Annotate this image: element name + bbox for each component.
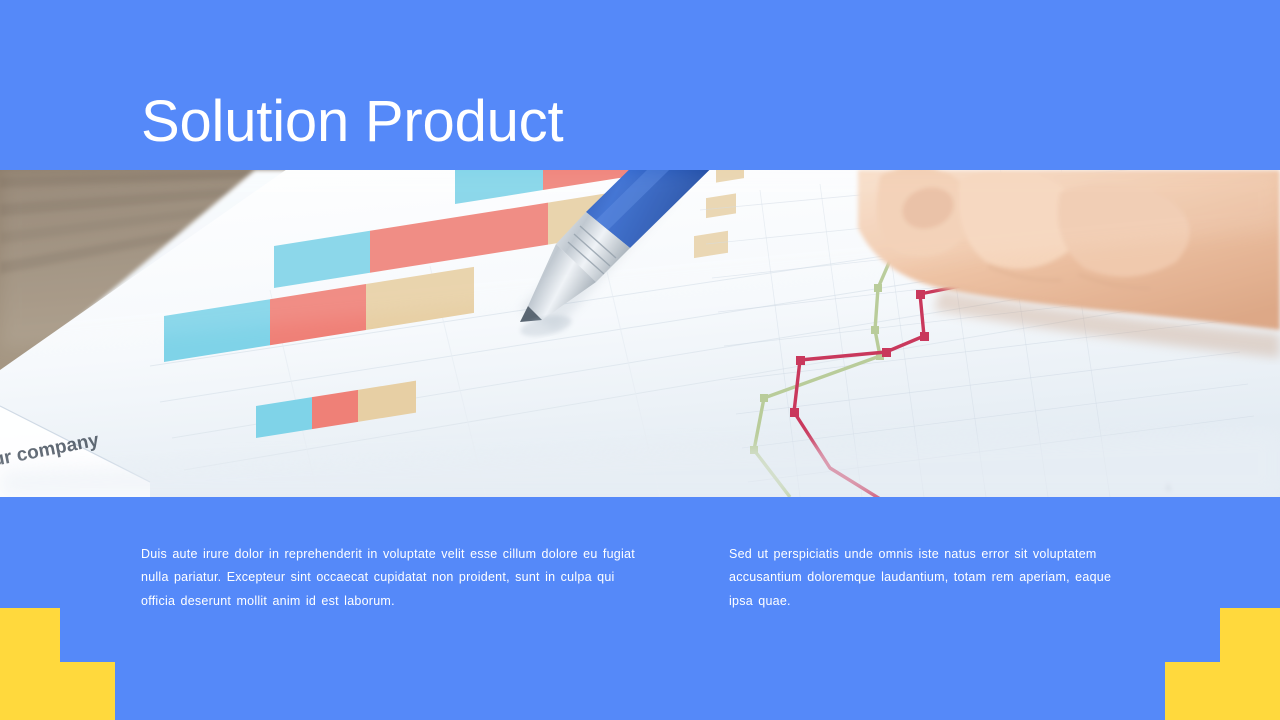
- slide-solution-product: Solution Product: [0, 0, 1280, 720]
- hero-photo-illustration: ur company 18 16 14 12: [0, 170, 1280, 497]
- body-text-row: Duis aute irure dolor in reprehenderit i…: [0, 497, 1280, 720]
- body-paragraph-right: Sed ut perspiciatis unde omnis iste natu…: [729, 543, 1139, 614]
- decoration-bottom-left-step-lower: [0, 662, 115, 720]
- decoration-bottom-right-step-lower: [1165, 662, 1280, 720]
- page-title: Solution Product: [141, 93, 563, 151]
- body-paragraph-left: Duis aute irure dolor in reprehenderit i…: [141, 543, 636, 614]
- title-band: Solution Product: [0, 0, 1280, 170]
- hero-photo: ur company 18 16 14 12: [0, 170, 1280, 497]
